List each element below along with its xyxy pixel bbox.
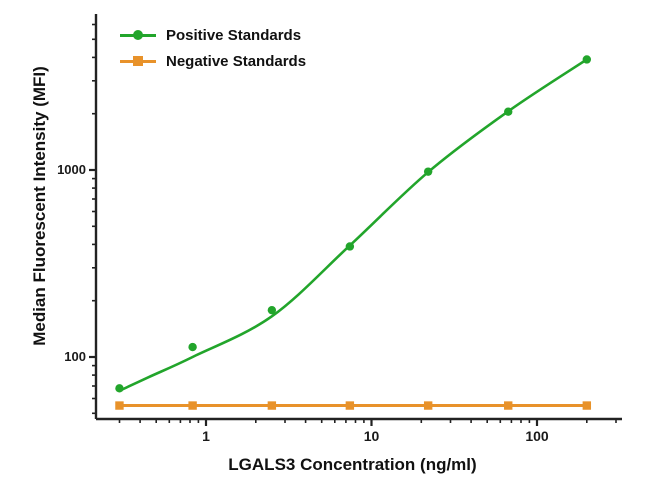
plot-area (0, 0, 650, 487)
x-axis-title: LGALS3 Concentration (ng/ml) (80, 455, 625, 475)
series-negative-standards (115, 401, 591, 409)
legend-item-negative-standards: Negative Standards (120, 48, 306, 74)
legend-label-positive: Positive Standards (166, 27, 301, 44)
legend-label-negative: Negative Standards (166, 53, 306, 70)
axis-lines (96, 14, 622, 419)
chart-container: 1001000 110100 Median Fluorescent Intens… (0, 0, 650, 487)
chart-legend: Positive Standards Negative Standards (120, 22, 306, 74)
data-series-layer (115, 55, 591, 409)
legend-item-positive-standards: Positive Standards (120, 22, 306, 48)
x-tick-label: 1 (166, 428, 246, 444)
legend-marker-positive-icon (120, 27, 156, 43)
x-tick-label: 100 (497, 428, 577, 444)
x-tick-label: 10 (332, 428, 412, 444)
y-axis-title: Median Fluorescent Intensity (MFI) (30, 16, 50, 396)
legend-marker-negative-icon (120, 53, 156, 69)
series-positive-standards (115, 55, 591, 392)
